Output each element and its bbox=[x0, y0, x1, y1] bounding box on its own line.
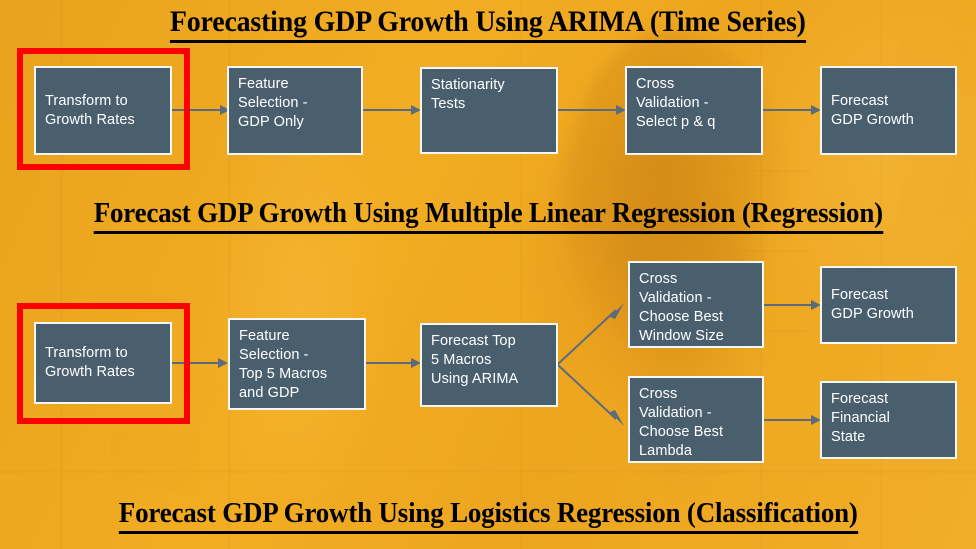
arima-step-stationarity-tests[interactable]: Stationarity Tests bbox=[420, 67, 558, 154]
arima-step-forecast-gdp-growth[interactable]: Forecast GDP Growth bbox=[820, 66, 957, 155]
arima-step-feature-selection-label: Feature Selection - GDP Only bbox=[238, 75, 361, 132]
heading-regression: Forecast GDP Growth Using Multiple Linea… bbox=[0, 197, 976, 234]
heading-arima: Forecasting GDP Growth Using ARIMA (Time… bbox=[0, 5, 976, 43]
arima-step-cross-validation[interactable]: Cross Validation - Select p & q bbox=[625, 66, 763, 155]
heading-regression-text: Forecast GDP Growth Using Multiple Linea… bbox=[93, 197, 882, 234]
heading-arima-text: Forecasting GDP Growth Using ARIMA (Time… bbox=[170, 5, 806, 43]
arrow-reg-cvtop-forecast bbox=[763, 299, 821, 311]
arima-step-forecast-gdp-growth-label: Forecast GDP Growth bbox=[831, 92, 955, 130]
regression-branch-forecast-financial-state-label: Forecast Financial State bbox=[831, 390, 955, 447]
regression-branch-forecast-gdp-growth-label: Forecast GDP Growth bbox=[831, 286, 955, 324]
arrow-arima-2-3 bbox=[363, 104, 421, 116]
regression-branch-forecast-gdp-growth[interactable]: Forecast GDP Growth bbox=[820, 266, 957, 344]
regression-branch-cv-window-size[interactable]: Cross Validation - Choose Best Window Si… bbox=[628, 261, 764, 348]
regression-step-forecast-macros-label: Forecast Top 5 Macros Using ARIMA bbox=[431, 332, 556, 389]
highlight-rect-arima-transform bbox=[17, 48, 190, 170]
slide-canvas: Forecasting GDP Growth Using ARIMA (Time… bbox=[0, 0, 976, 549]
regression-branch-cv-lambda[interactable]: Cross Validation - Choose Best Lambda bbox=[628, 376, 764, 463]
regression-step-forecast-macros[interactable]: Forecast Top 5 Macros Using ARIMA bbox=[420, 323, 558, 407]
arrow-reg-cvbottom-forecast bbox=[763, 414, 821, 426]
arrow-reg-2-3 bbox=[365, 357, 421, 369]
regression-step-feature-selection[interactable]: Feature Selection - Top 5 Macros and GDP bbox=[228, 318, 366, 410]
arima-step-stationarity-tests-label: Stationarity Tests bbox=[431, 76, 556, 114]
regression-branch-forecast-financial-state[interactable]: Forecast Financial State bbox=[820, 381, 957, 459]
arima-step-feature-selection[interactable]: Feature Selection - GDP Only bbox=[227, 66, 363, 155]
regression-branch-cv-window-size-label: Cross Validation - Choose Best Window Si… bbox=[639, 270, 762, 346]
arima-step-cross-validation-label: Cross Validation - Select p & q bbox=[636, 75, 761, 132]
heading-classification-text: Forecast GDP Growth Using Logistics Regr… bbox=[119, 497, 858, 534]
heading-classification: Forecast GDP Growth Using Logistics Regr… bbox=[0, 497, 976, 534]
regression-branch-cv-lambda-label: Cross Validation - Choose Best Lambda bbox=[639, 385, 762, 461]
highlight-rect-regression-transform bbox=[17, 303, 190, 424]
regression-step-feature-selection-label: Feature Selection - Top 5 Macros and GDP bbox=[239, 327, 364, 403]
